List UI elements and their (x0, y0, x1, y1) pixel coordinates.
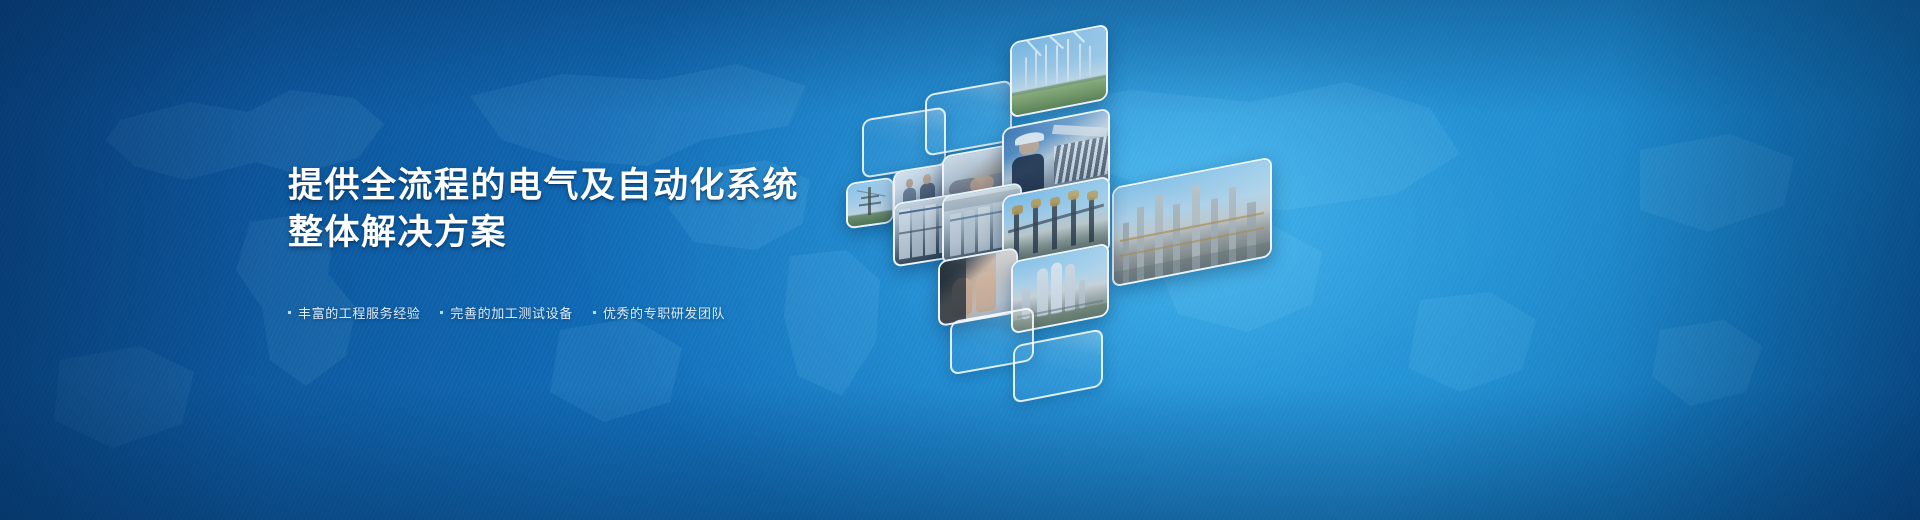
headline-line-2: 整体解决方案 (288, 210, 908, 257)
feature-label-3: 优秀的专职研发团队 (603, 303, 725, 322)
tile-gloss (927, 82, 1010, 155)
feature-item-2: 完善的加工测试设备 (440, 303, 572, 322)
wind-turbines-photo[interactable] (1010, 23, 1108, 118)
bullet-icon (440, 311, 443, 314)
feature-item-3: 优秀的专职研发团队 (593, 303, 725, 322)
bullet-icon (288, 311, 291, 314)
feature-label-2: 完善的加工测试设备 (450, 303, 572, 322)
feature-item-1: 丰富的工程服务经验 (288, 303, 420, 322)
refinery-photo[interactable] (1112, 156, 1272, 287)
feature-label-1: 丰富的工程服务经验 (298, 303, 420, 322)
feature-list: 丰富的工程服务经验 完善的加工测试设备 优秀的专职研发团队 (288, 303, 908, 322)
refinery-silhouette (1114, 159, 1270, 285)
hero-copy: 提供全流程的电气及自动化系统 整体解决方案 丰富的工程服务经验 完善的加工测试设… (288, 140, 908, 322)
turbine-silhouettes (1012, 26, 1106, 116)
hero-banner: 提供全流程的电气及自动化系统 整体解决方案 丰富的工程服务经验 完善的加工测试设… (0, 0, 1920, 520)
page-title: 提供全流程的电气及自动化系统 整体解决方案 (288, 163, 908, 256)
bullet-icon (593, 311, 596, 314)
headline-line-1: 提供全流程的电气及自动化系统 (288, 166, 799, 205)
